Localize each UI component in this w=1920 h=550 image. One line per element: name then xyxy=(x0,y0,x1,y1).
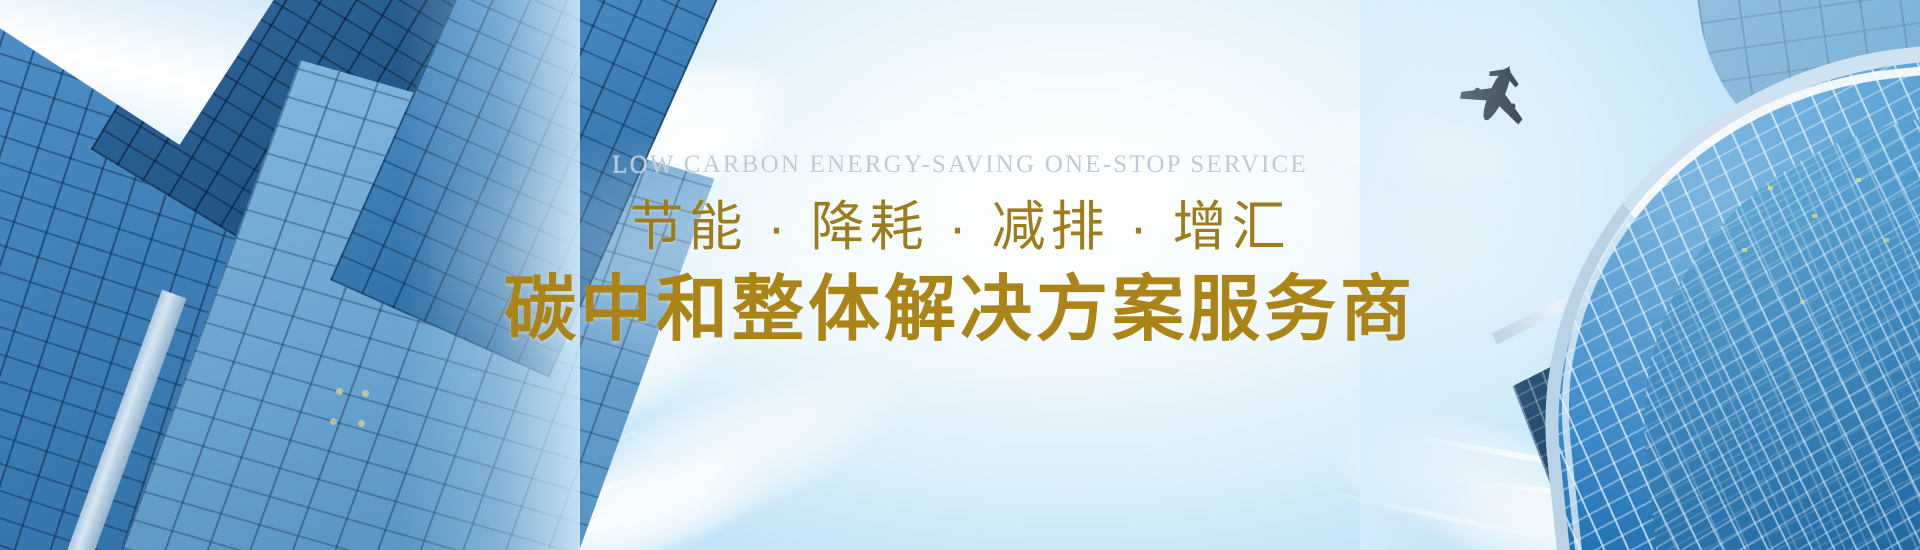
banner-eyebrow-text: LOW CARBON ENERGY-SAVING ONE-STOP SERVIC… xyxy=(612,152,1308,177)
banner-text-block: LOW CARBON ENERGY-SAVING ONE-STOP SERVIC… xyxy=(0,0,1920,550)
banner-headline: 碳中和整体解决方案服务商 xyxy=(504,269,1416,351)
hero-banner: LOW CARBON ENERGY-SAVING ONE-STOP SERVIC… xyxy=(0,0,1920,550)
banner-subtitle: 节能 · 降耗 · 减排 · 增汇 xyxy=(630,197,1291,257)
